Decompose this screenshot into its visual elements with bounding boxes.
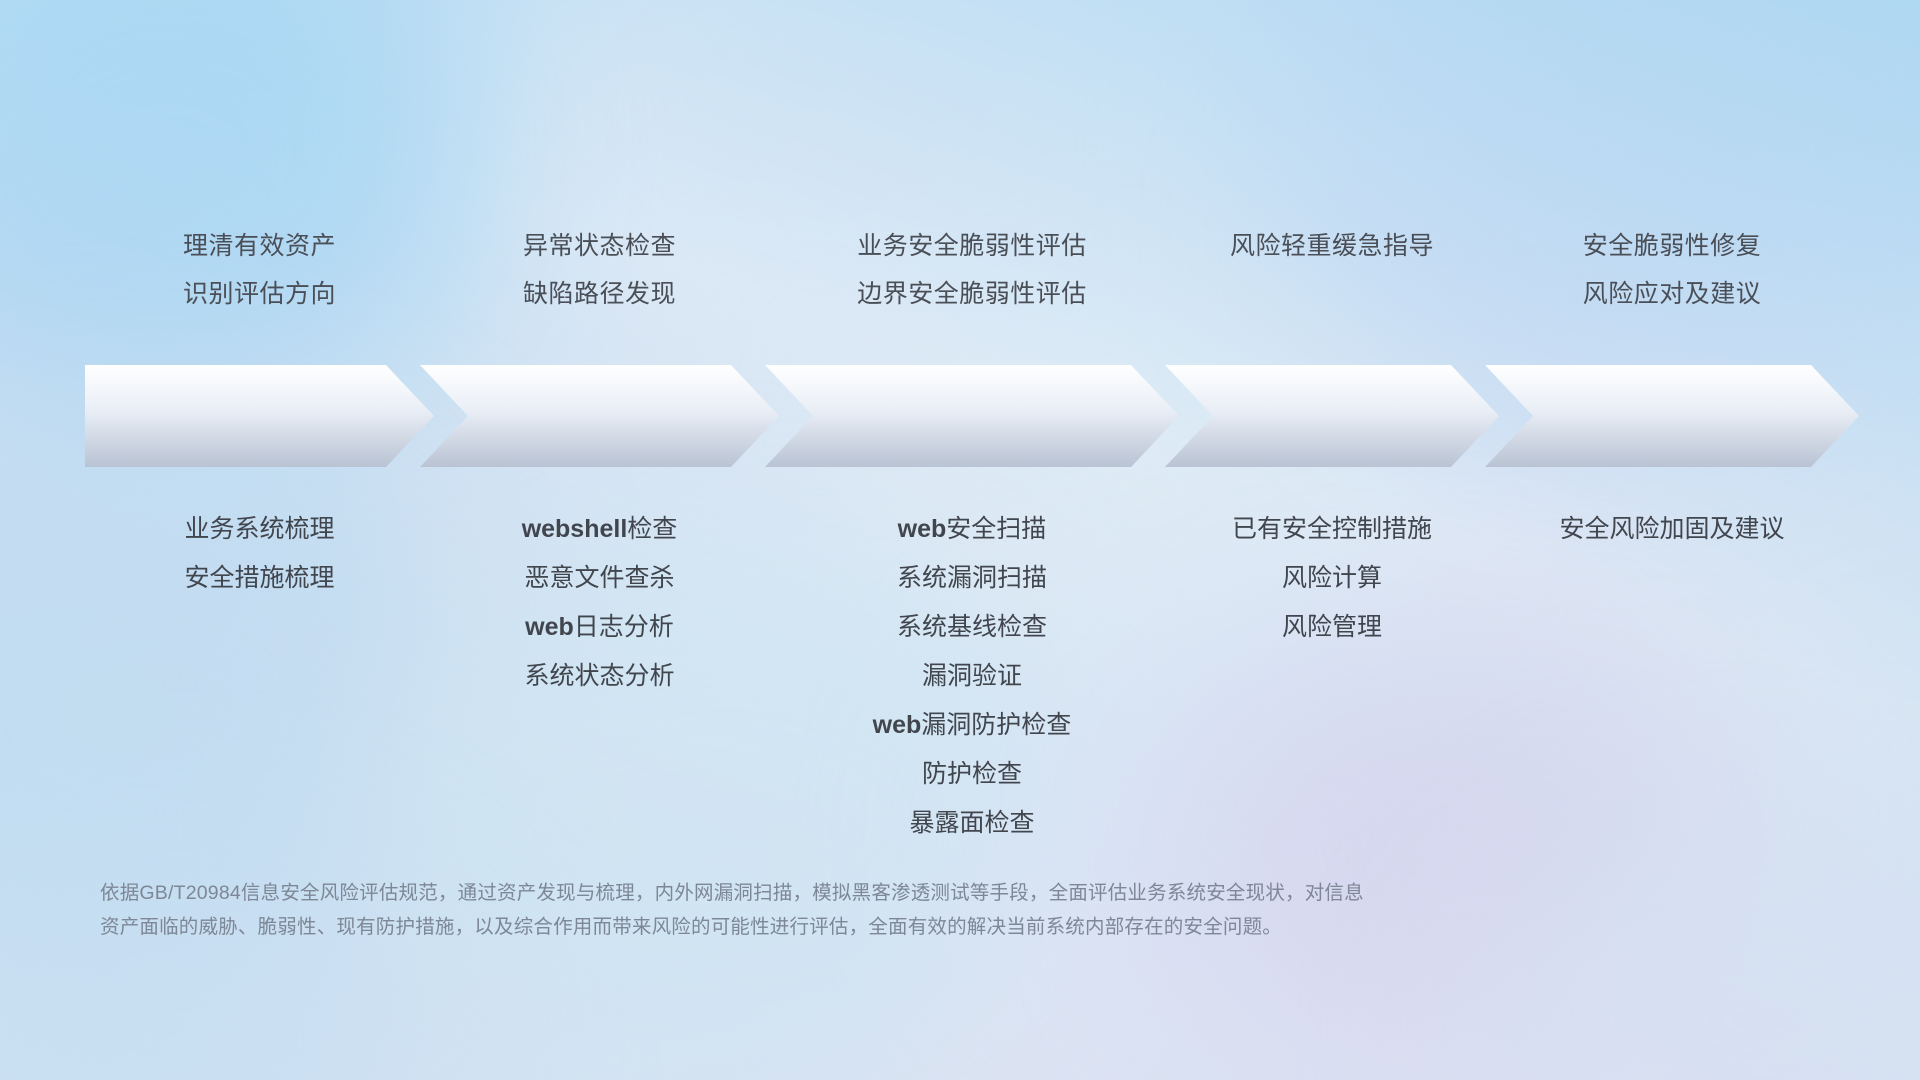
bottom-label-latin: webshell	[522, 515, 628, 543]
stage-arrow-bevel-3	[765, 365, 1179, 467]
bottom-label-cjk: 暴露面检查	[909, 809, 1034, 837]
bottom-label-cjk: 安全风险加固及建议	[1559, 515, 1784, 543]
bottom-label-item: 漏洞验证	[672, 652, 1272, 701]
bottom-label-latin: web	[898, 515, 947, 543]
bottom-label-item: 防护检查	[672, 750, 1272, 799]
bottom-label-cjk: 漏洞防护检查	[921, 711, 1071, 739]
stage-arrow-bevel-1	[85, 365, 434, 467]
bottom-label-cjk: 恶意文件查杀	[524, 564, 674, 592]
bottom-label-item: 安全风险加固及建议	[1372, 505, 1920, 554]
process-arrow-banner: 资产全面梳理精准入侵检查全面弱点检测风险分析风险评估报告	[92, 365, 1852, 467]
bottom-label-latin: web	[873, 711, 922, 739]
stage-arrow-bevel-2	[420, 365, 779, 467]
bottom-label-item: 风险计算	[1032, 554, 1632, 603]
bottom-label-cjk: 系统状态分析	[524, 662, 674, 690]
bottom-label-cjk: 防护检查	[922, 760, 1022, 788]
top-label-line: 边界安全脆弱性评估	[672, 270, 1272, 318]
stage-arrow-bevel-4	[1165, 365, 1499, 467]
top-label-line: 安全脆弱性修复	[1372, 222, 1920, 270]
top-label-line: 风险应对及建议	[1372, 270, 1920, 318]
bottom-label-cjk: 漏洞验证	[922, 662, 1022, 690]
bottom-label-cjk: 风险管理	[1282, 613, 1382, 641]
bottom-label-item: 风险管理	[1032, 603, 1632, 652]
bottom-label-latin: web	[525, 613, 574, 641]
footer-line-2: 资产面临的威胁、脆弱性、现有防护措施，以及综合作用而带来风险的可能性进行评估，全…	[100, 910, 1620, 944]
bottom-label-cjk: 检查	[627, 515, 677, 543]
bottom-label-item: web漏洞防护检查	[672, 701, 1272, 750]
bottom-label-column-5: 安全风险加固及建议	[1372, 505, 1920, 554]
bottom-label-cjk: 系统基线检查	[897, 613, 1047, 641]
bottom-label-cjk: 风险计算	[1282, 564, 1382, 592]
footer-description: 依据GB/T20984信息安全风险评估规范，通过资产发现与梳理，内外网漏洞扫描，…	[100, 876, 1620, 944]
bottom-label-cjk: 系统漏洞扫描	[897, 564, 1047, 592]
stage-arrow-bevel-5	[1485, 365, 1859, 467]
top-label-row: 理清有效资产识别评估方向异常状态检查缺陷路径发现业务安全脆弱性评估边界安全脆弱性…	[0, 222, 1920, 332]
bottom-label-cjk: 日志分析	[574, 613, 674, 641]
bottom-label-item: 暴露面检查	[672, 799, 1272, 848]
top-label-column-5: 安全脆弱性修复风险应对及建议	[1372, 222, 1920, 318]
footer-line-1: 依据GB/T20984信息安全风险评估规范，通过资产发现与梳理，内外网漏洞扫描，…	[100, 876, 1620, 910]
